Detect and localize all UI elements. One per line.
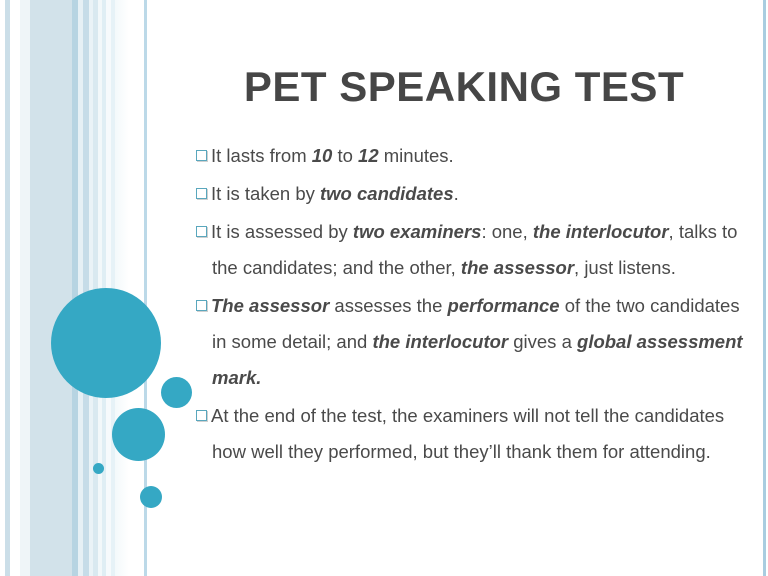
emphasis-text: two candidates (320, 183, 454, 204)
emphasis-text: 12 (358, 145, 379, 166)
bullet-square-icon (196, 150, 207, 161)
bullet-square-icon (196, 300, 207, 311)
bullet-examiners: It is assessed by two examiners: one, th… (196, 214, 752, 286)
body-text: gives a (508, 331, 577, 352)
emphasis-text: The assessor (211, 295, 329, 316)
slide-content: PET SPEAKING TEST It lasts from 10 to 12… (0, 0, 768, 576)
body-text: . (454, 183, 459, 204)
bullet-square-icon (196, 410, 207, 421)
body-text: minutes. (379, 145, 454, 166)
body-text: At the end of the test, the examiners wi… (211, 405, 724, 462)
emphasis-text: the assessor (461, 257, 574, 278)
body-text: It is assessed by (211, 221, 353, 242)
slide-title: PET SPEAKING TEST (180, 62, 748, 112)
body-text: to (332, 145, 358, 166)
slide-canvas: PET SPEAKING TEST It lasts from 10 to 12… (0, 0, 768, 576)
bullet-square-icon (196, 188, 207, 199)
emphasis-text: performance (448, 295, 560, 316)
bullet-assessment: The assessor assesses the performance of… (196, 288, 752, 396)
bullet-square-icon (196, 226, 207, 237)
bullet-duration: It lasts from 10 to 12 minutes. (196, 138, 752, 174)
bullet-candidates: It is taken by two candidates. (196, 176, 752, 212)
bullet-list: It lasts from 10 to 12 minutes.It is tak… (196, 138, 752, 472)
emphasis-text: the interlocutor (372, 331, 508, 352)
body-text: It is taken by (211, 183, 320, 204)
body-text: It lasts from (211, 145, 312, 166)
body-text: , just listens. (574, 257, 676, 278)
emphasis-text: 10 (312, 145, 333, 166)
body-text: : one, (481, 221, 532, 242)
body-text: assesses the (329, 295, 447, 316)
emphasis-text: two examiners (353, 221, 482, 242)
emphasis-text: the interlocutor (533, 221, 669, 242)
bullet-end-of-test: At the end of the test, the examiners wi… (196, 398, 752, 470)
